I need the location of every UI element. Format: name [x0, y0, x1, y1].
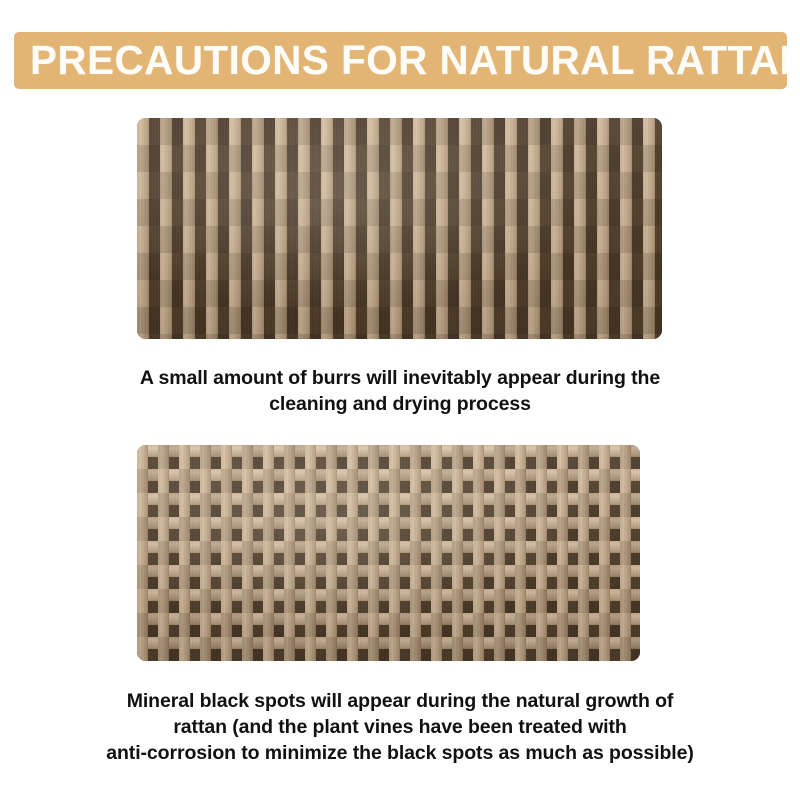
caption-black-spots: Mineral black spots will appear during t…	[0, 688, 800, 766]
rattan-weave-photo-1	[137, 118, 662, 339]
header-banner: PRECAUTIONS FOR NATURAL RATTAN	[14, 32, 787, 89]
rattan-weave-photo-2	[137, 445, 640, 661]
weave-texture	[137, 118, 662, 339]
weave-texture	[137, 445, 640, 661]
page-title: PRECAUTIONS FOR NATURAL RATTAN	[30, 40, 787, 81]
weave-interlace-overlay	[137, 118, 662, 339]
caption-burrs-line-1: A small amount of burrs will inevitably …	[0, 365, 800, 391]
weave-interlace-overlay	[137, 445, 640, 661]
caption-burrs-line-2: cleaning and drying process	[0, 391, 800, 417]
caption-burrs: A small amount of burrs will inevitably …	[0, 365, 800, 417]
caption-black-spots-line-1: Mineral black spots will appear during t…	[0, 688, 800, 714]
infographic-page: PRECAUTIONS FOR NATURAL RATTAN A small a…	[0, 0, 800, 800]
caption-black-spots-line-3: anti-corrosion to minimize the black spo…	[0, 740, 800, 766]
caption-black-spots-line-2: rattan (and the plant vines have been tr…	[0, 714, 800, 740]
